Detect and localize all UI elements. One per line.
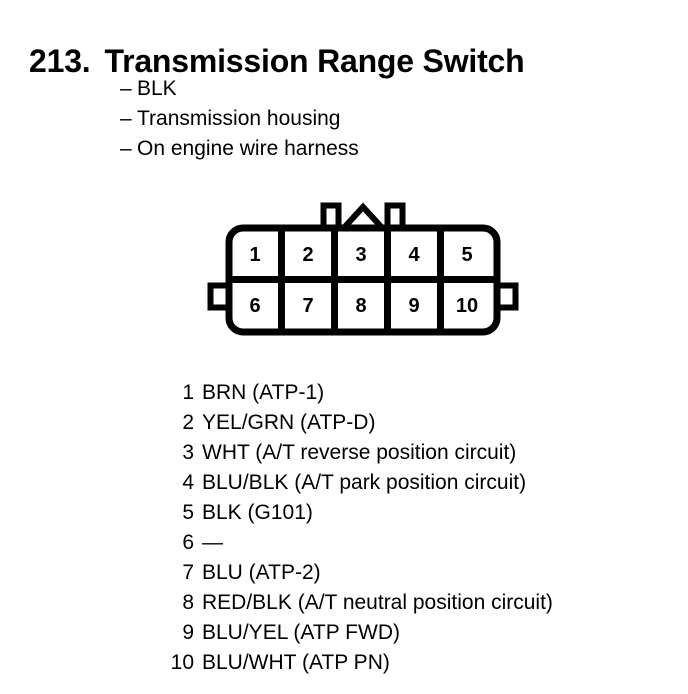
dash-bullet: – (120, 74, 137, 104)
pin-legend: 1 BRN (ATP-1) 2 YEL/GRN (ATP-D) 3 WHT (A… (120, 378, 680, 678)
pin-legend-row: 10 BLU/WHT (ATP PN) (120, 648, 680, 678)
connector-pin-4: 4 (408, 244, 420, 266)
connector-pin-5: 5 (461, 244, 472, 266)
spec-list-item: –Transmission housing (120, 104, 359, 134)
connector-pin-2: 2 (302, 244, 313, 266)
spec-list-item: –On engine wire harness (120, 134, 359, 164)
pin-legend-desc: BLU/WHT (ATP PN) (202, 648, 390, 678)
spec-list-item-label: Transmission housing (137, 107, 340, 130)
page-title-number: 213. (29, 43, 90, 79)
pin-legend-row: 4 BLU/BLK (A/T park position circuit) (120, 468, 680, 498)
connector-pin-9: 9 (408, 295, 419, 317)
pin-legend-desc: RED/BLK (A/T neutral position circuit) (202, 588, 553, 618)
pin-legend-index: 4 (120, 468, 194, 498)
pin-legend-row: 5 BLK (G101) (120, 498, 680, 528)
pin-legend-desc: YEL/GRN (ATP-D) (202, 408, 375, 438)
pin-legend-row: 1 BRN (ATP-1) (120, 378, 680, 408)
pin-legend-row: 2 YEL/GRN (ATP-D) (120, 408, 680, 438)
pin-legend-index: 6 (120, 528, 194, 558)
dash-bullet: – (120, 104, 137, 134)
connector-diagram: 1 2 3 4 5 6 7 8 9 10 (203, 196, 523, 341)
pin-legend-index: 5 (120, 498, 194, 528)
pin-legend-index: 2 (120, 408, 194, 438)
pin-legend-desc: BLU/BLK (A/T park position circuit) (202, 468, 526, 498)
spec-list-item-label: On engine wire harness (137, 137, 359, 160)
pin-legend-row: 9 BLU/YEL (ATP FWD) (120, 618, 680, 648)
pin-legend-row: 7 BLU (ATP-2) (120, 558, 680, 588)
pin-legend-desc: BLK (G101) (202, 498, 313, 528)
pin-legend-index: 3 (120, 438, 194, 468)
pin-legend-desc: BRN (ATP-1) (202, 378, 324, 408)
connector-pin-3: 3 (355, 244, 366, 266)
pin-legend-index: 1 (120, 378, 194, 408)
pin-legend-index: 8 (120, 588, 194, 618)
pin-legend-desc: WHT (A/T reverse position circuit) (202, 438, 516, 468)
pin-legend-row: 6 — (120, 528, 680, 558)
pin-legend-row: 8 RED/BLK (A/T neutral position circuit) (120, 588, 680, 618)
pin-legend-desc: BLU (ATP-2) (202, 558, 321, 588)
spec-list-item: –BLK (120, 74, 359, 104)
dash-bullet: – (120, 134, 137, 164)
pin-legend-index: 10 (120, 648, 194, 678)
pin-legend-desc: BLU/YEL (ATP FWD) (202, 618, 400, 648)
connector-pin-6: 6 (249, 295, 260, 317)
pin-legend-index: 9 (120, 618, 194, 648)
pin-legend-desc: — (202, 528, 223, 558)
connector-svg: 1 2 3 4 5 6 7 8 9 10 (203, 196, 523, 341)
pin-legend-row: 3 WHT (A/T reverse position circuit) (120, 438, 680, 468)
connector-pin-1: 1 (249, 244, 260, 266)
spec-list: –BLK –Transmission housing –On engine wi… (120, 74, 359, 164)
spec-list-item-label: BLK (137, 77, 177, 100)
connector-pin-8: 8 (355, 295, 366, 317)
connector-pin-10: 10 (456, 295, 478, 317)
connector-pin-7: 7 (302, 295, 313, 317)
pin-legend-index: 7 (120, 558, 194, 588)
